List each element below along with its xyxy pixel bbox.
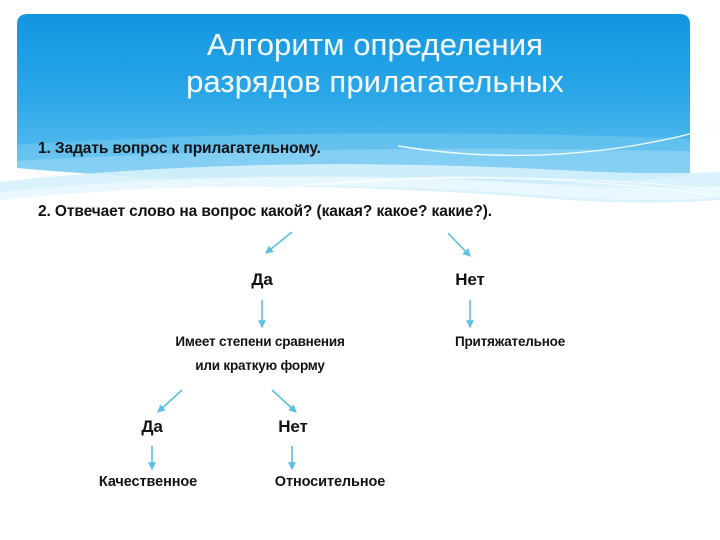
header-background-graphic (0, 0, 720, 215)
node-yes-level-1: Да (212, 270, 312, 290)
step-1-text: 1. Задать вопрос к прилагательному. (38, 140, 321, 158)
arrow-question-to-yes (266, 232, 292, 253)
arrow-question-to-no (448, 233, 470, 256)
arrow-branch-a-to-yes2 (158, 390, 182, 412)
node-leaf-qualitative: Качественное (58, 474, 238, 490)
node-no-level-1: Нет (420, 270, 520, 290)
node-no-level-2: Нет (253, 417, 333, 437)
node-leaf-relative: Относительное (220, 474, 440, 490)
step-2-text: 2. Отвечает слово на вопрос какой? (кака… (38, 203, 492, 221)
node-branch-b: Притяжательное (400, 334, 620, 349)
presentation-slide: Алгоритм определения разрядов прилагател… (0, 0, 720, 540)
slide-header-banner: Алгоритм определения разрядов прилагател… (0, 0, 720, 215)
node-branch-a-line-2: или краткую форму (110, 358, 410, 373)
arrow-branch-a-to-no2 (272, 390, 296, 412)
node-branch-a-line-1: Имеет степени сравнения (110, 334, 410, 349)
node-yes-level-2: Да (112, 417, 192, 437)
